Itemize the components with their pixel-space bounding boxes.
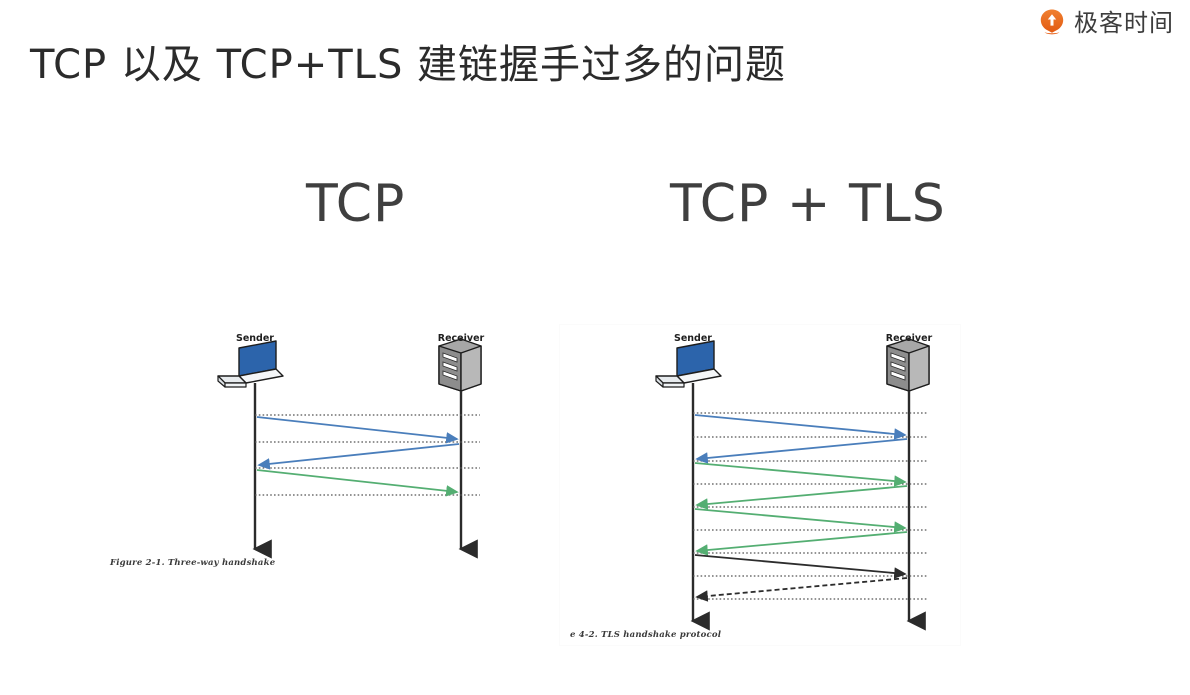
message-8-application-response bbox=[697, 578, 907, 597]
geektime-logo-icon bbox=[1037, 8, 1067, 38]
server-icon bbox=[887, 339, 929, 391]
sender-label: Sender bbox=[236, 333, 274, 344]
brand-name: 极客时间 bbox=[1074, 11, 1174, 35]
page-title: TCP 以及 TCP+TLS 建链握手过多的问题 bbox=[30, 32, 786, 90]
message-4-server-hello bbox=[697, 486, 907, 505]
message-3-client-hello bbox=[695, 463, 905, 482]
message-2-syn-ack bbox=[697, 439, 907, 459]
server-icon bbox=[439, 339, 481, 391]
message-1-syn bbox=[257, 417, 457, 439]
message-5-key-exchange bbox=[695, 509, 905, 528]
brand-logo: 极客时间 bbox=[1037, 8, 1174, 38]
sender-label: Sender bbox=[674, 333, 712, 344]
message-3-ack bbox=[257, 470, 457, 492]
message-1-syn bbox=[695, 415, 905, 435]
heading-tcp-tls: TCP + TLS bbox=[670, 174, 946, 234]
receiver-label: Receiver bbox=[438, 333, 485, 344]
laptop-icon bbox=[656, 341, 721, 387]
figure-caption: e 4-2. TLS handshake protocol bbox=[570, 630, 722, 640]
heading-tcp: TCP bbox=[306, 174, 405, 234]
message-2-syn-ack bbox=[259, 444, 459, 465]
diagram-tcp-handshake: Sender Receiver Figure 2-1. Three-way ha… bbox=[100, 325, 500, 575]
figure-caption: Figure 2-1. Three-way handshake bbox=[109, 558, 276, 568]
message-6-finished bbox=[697, 532, 907, 551]
receiver-label: Receiver bbox=[886, 333, 933, 344]
laptop-icon bbox=[218, 341, 283, 387]
message-7-application-request bbox=[695, 555, 905, 574]
diagram-tls-handshake: Sender Receiver bbox=[560, 325, 960, 645]
